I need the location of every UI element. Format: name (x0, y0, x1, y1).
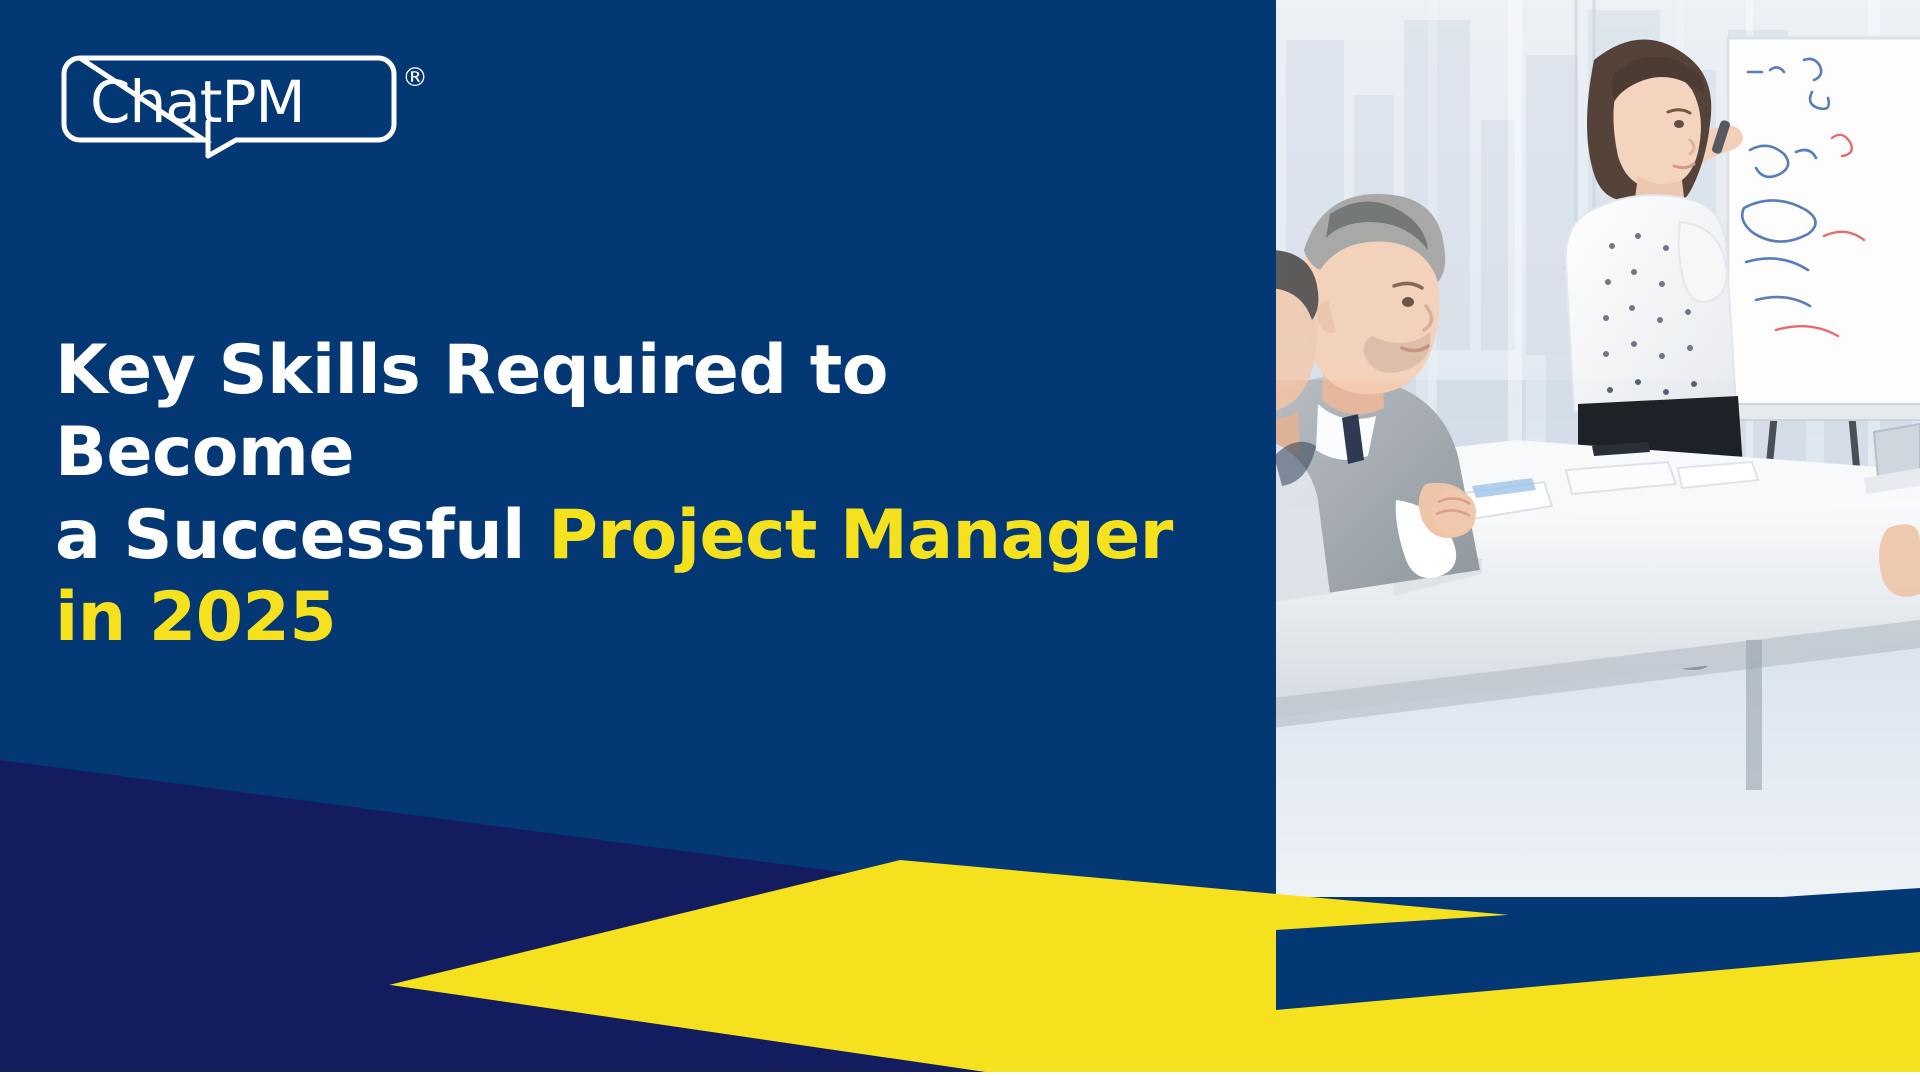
logo-wordmark: ChatPM (90, 68, 305, 136)
headline-accent-text: Project Manager (548, 496, 1173, 575)
promo-banner: ChatPM ® Key Skills Required to Become a… (0, 0, 1920, 1080)
hero-photo (1276, 0, 1920, 897)
headline-line-2: a Successful Project Manager (55, 495, 1175, 577)
yellow-corner-strip (1040, 1005, 1920, 1080)
headline-line-1: Key Skills Required to Become (55, 330, 1175, 495)
navy-left-wedge (0, 760, 1276, 1080)
headline-line-3: in 2025 (55, 577, 1175, 659)
page-title: Key Skills Required to Become a Successf… (55, 330, 1175, 659)
blue-right-band (1276, 888, 1920, 1010)
meeting-photo-illustration (1276, 0, 1920, 897)
headline-plain-text: a Successful (55, 496, 548, 575)
chat-bubble-logo: ChatPM ® (58, 52, 438, 162)
brand-logo[interactable]: ChatPM ® (58, 52, 438, 162)
bottom-edge (0, 1072, 1920, 1080)
registered-mark: ® (402, 63, 428, 93)
navy-bottom-wedge (0, 928, 1040, 1080)
